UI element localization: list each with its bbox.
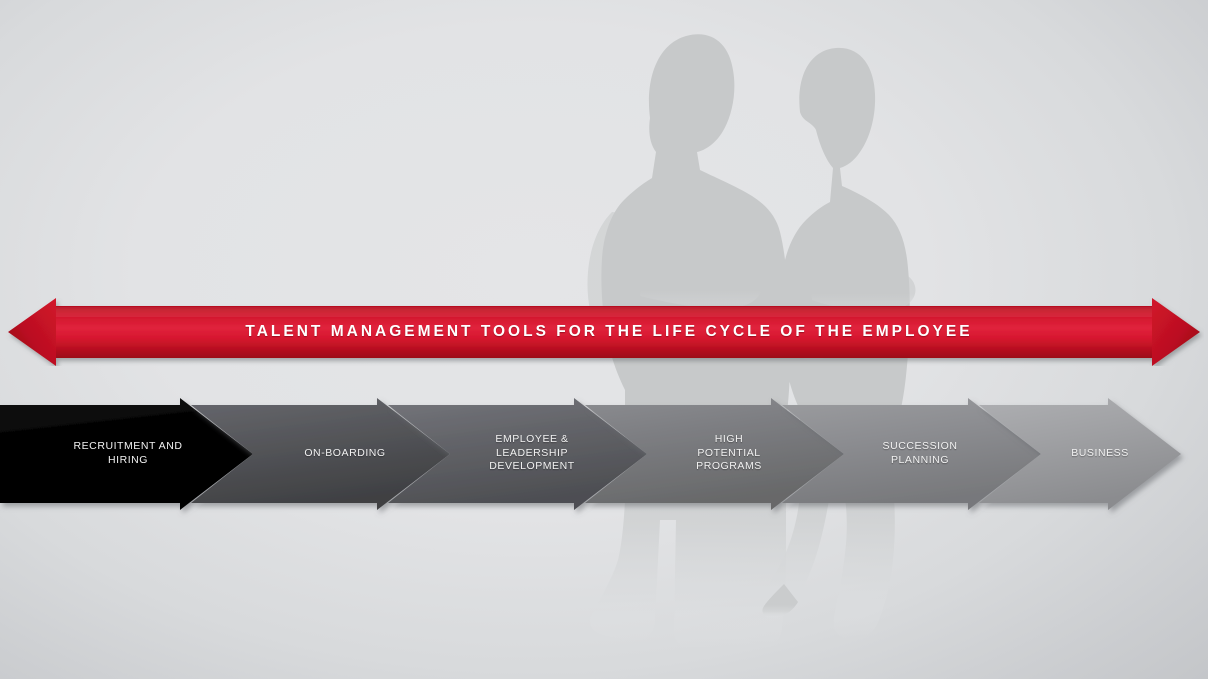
stage-business[interactable] bbox=[979, 398, 1181, 518]
slide-canvas: TALENT MANAGEMENT TOOLS FOR THE LIFE CYC… bbox=[0, 0, 1208, 679]
talent-management-banner: TALENT MANAGEMENT TOOLS FOR THE LIFE CYC… bbox=[4, 298, 1204, 366]
employee-life-cycle-process: RECRUITMENT AND HIRING ON-BOARDING EMPLO… bbox=[0, 392, 1208, 526]
